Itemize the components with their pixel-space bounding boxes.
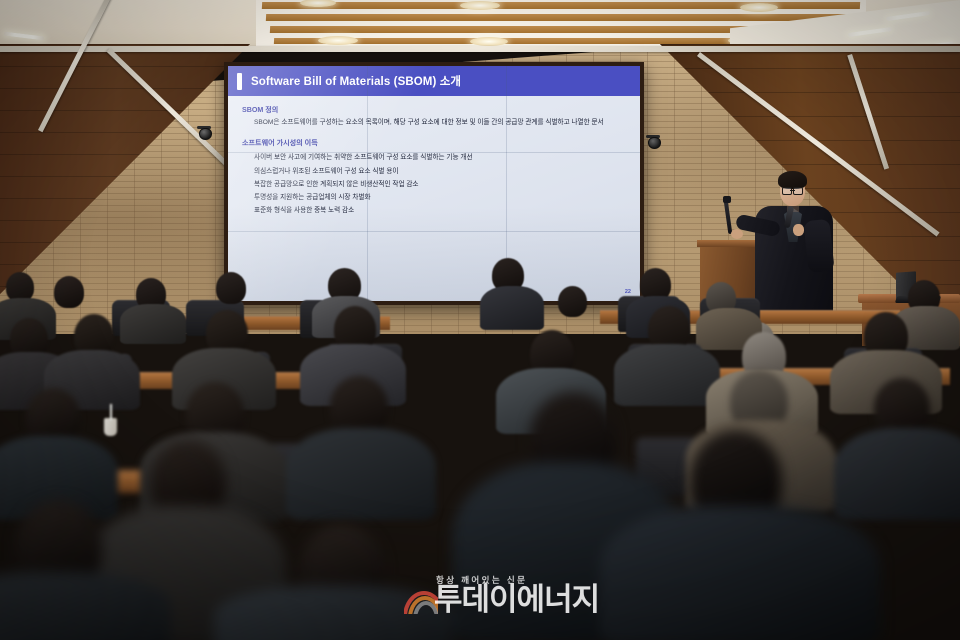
audience-shoulders-m5	[614, 344, 720, 406]
ceiling-slat-2	[266, 14, 854, 21]
dome-security-camera-right	[645, 135, 661, 147]
slide-page-number: 22	[625, 289, 631, 295]
slide-bullet-1-1: SBOM은 소프트웨어를 구성하는 요소의 목록이며, 해당 구성 요소에 대한…	[254, 118, 622, 128]
projection-screen: Software Bill of Materials (SBOM) 소개 SBO…	[228, 66, 640, 301]
eyeglass-right-lens	[793, 187, 803, 195]
audience-shoulders-fg3	[214, 586, 454, 640]
audience-shoulders-fg2	[600, 506, 880, 640]
ceiling-lamp-2	[460, 1, 500, 10]
paper-coffee-cup	[104, 418, 117, 436]
speaker-eyeglasses	[782, 187, 803, 193]
audience-shoulders-n2	[286, 428, 436, 520]
audience-head-f1	[54, 276, 84, 308]
eyeglass-left-lens	[782, 187, 792, 195]
audience-shoulders-f5	[480, 286, 544, 330]
audience-shoulders-fg4	[0, 572, 170, 640]
speaker-right-arm	[803, 219, 834, 273]
camera-dome	[199, 128, 212, 140]
speaker-left-hand	[731, 229, 743, 239]
audience-shoulders-f2	[120, 304, 186, 344]
slide-title: Software Bill of Materials (SBOM) 소개	[251, 73, 461, 89]
screen-panel-seam-h1	[228, 152, 640, 153]
speaker-right-hand	[793, 224, 804, 236]
projection-screen-frame: Software Bill of Materials (SBOM) 소개 SBO…	[224, 62, 644, 305]
dome-security-camera-left	[196, 126, 212, 138]
ceiling-lamp-5	[470, 37, 508, 46]
audience-head-f6	[558, 286, 587, 317]
screen-panel-seam-h2	[228, 231, 640, 232]
slide-spacer	[238, 131, 630, 138]
audience-shoulders-n4	[834, 428, 960, 520]
audience-head-f3	[216, 272, 246, 304]
slide-bullet-2-3: 복잡한 공급망으로 인한 계획되지 않은 비생산적인 작업 감소	[254, 178, 630, 188]
slide-heading-2: 소프트웨어 가시성의 이득	[242, 138, 630, 148]
cup-straw	[110, 404, 112, 420]
camera-dome	[648, 137, 661, 149]
slide-bullet-2-5: 표준화 형식을 사용한 중복 노력 감소	[254, 204, 630, 214]
slide-heading-1: SBOM 정의	[242, 105, 630, 115]
eyeglass-bridge	[790, 190, 795, 191]
slide-bullet-2-4: 투명성을 지원하는 공급업체의 시장 차별화	[254, 191, 630, 201]
screen-panel-seam-v1	[367, 66, 368, 301]
laser-pointer-tip	[723, 196, 731, 203]
slide-header-band: Software Bill of Materials (SBOM) 소개	[228, 66, 640, 96]
slide-accent-bar	[237, 73, 242, 90]
slide-body: SBOM 정의 SBOM은 소프트웨어를 구성하는 요소의 목록이며, 해당 구…	[228, 96, 640, 214]
ceiling-trim	[0, 46, 960, 52]
ceiling-lamp-4	[318, 36, 358, 45]
lecture-hall-photo: Software Bill of Materials (SBOM) 소개 SBO…	[0, 0, 960, 640]
ceiling-lamp-3	[740, 3, 778, 12]
slide-bullet-2-2: 의심스럽거나 위조된 소프트웨어 구성 요소 식별 용이	[254, 165, 630, 175]
